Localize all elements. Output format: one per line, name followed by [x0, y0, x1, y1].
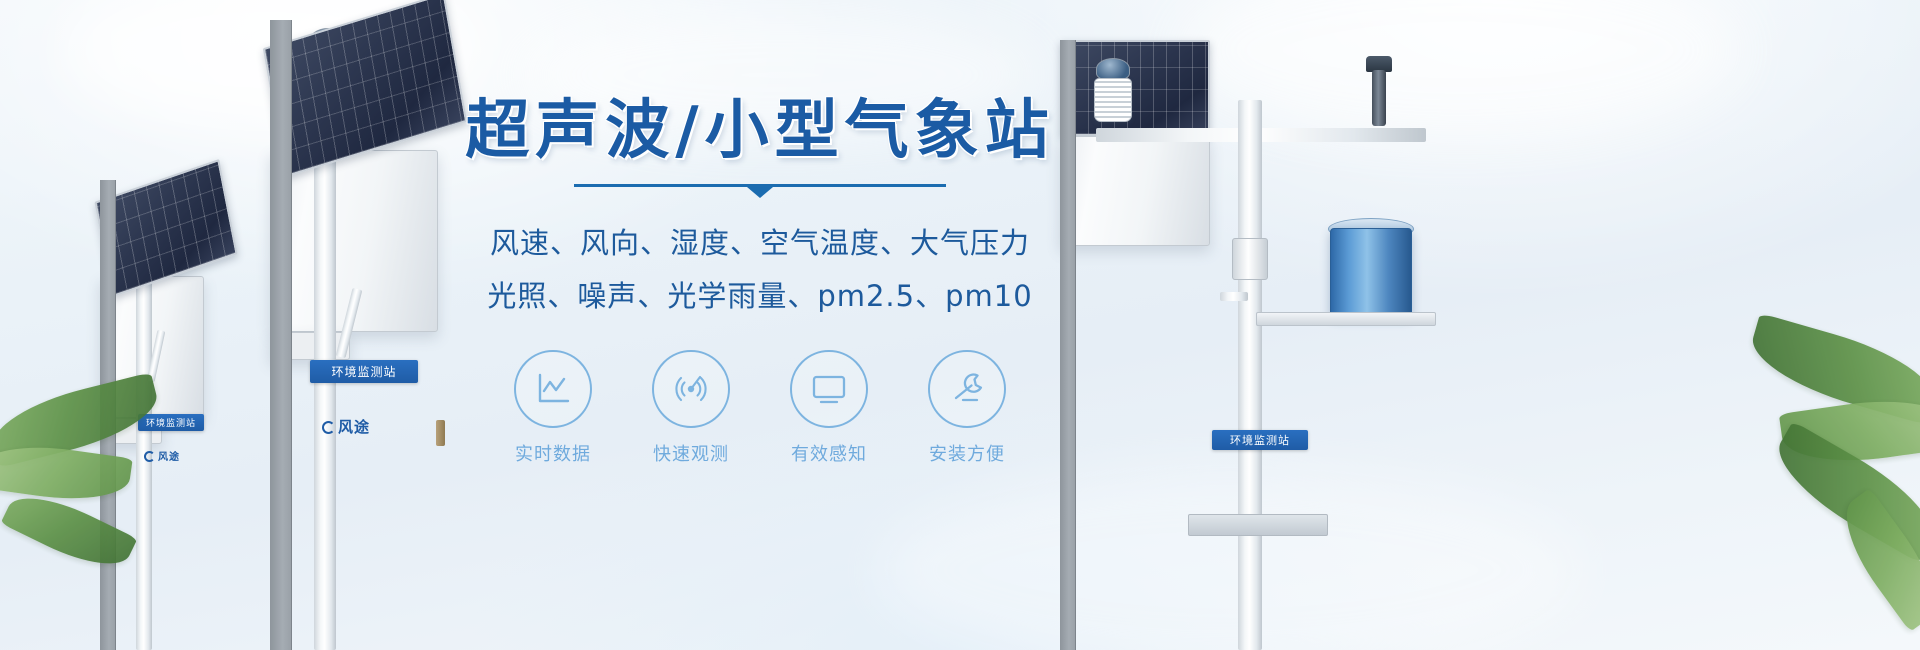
compact-weather-sensor — [1096, 58, 1130, 80]
cabinet-side-panel — [270, 20, 292, 650]
brand-glyph-icon — [144, 451, 155, 462]
feature-fast-observation[interactable]: 快速观测 — [641, 350, 741, 466]
product-banner: 环境监测站 风途 环境监测站 风途 — [0, 0, 1920, 650]
feature-icon-circle — [652, 350, 730, 428]
title-divider — [574, 184, 946, 187]
optical-sensor-body — [1372, 70, 1386, 126]
radar-signal-icon — [671, 369, 711, 409]
feature-icon-circle — [514, 350, 592, 428]
cabinet-name-plate: 环境监测站 — [1212, 430, 1308, 450]
feature-icon-circle — [790, 350, 868, 428]
line-chart-icon — [533, 369, 573, 409]
subtitle-line-2: 光照、噪声、光学雨量、pm2.5、pm10 — [440, 270, 1080, 324]
equipment-cabinet — [1060, 136, 1210, 246]
feature-label: 安装方便 — [917, 440, 1017, 466]
brand-glyph-icon — [322, 421, 335, 434]
feature-realtime-data[interactable]: 实时数据 — [503, 350, 603, 466]
feature-list: 实时数据 快速观测 — [440, 350, 1080, 466]
optical-rain-gauge — [1330, 228, 1412, 316]
pole-collar — [1232, 238, 1268, 280]
page-title: 超声波/小型气象站 — [440, 96, 1080, 168]
feature-easy-installation[interactable]: 安装方便 — [917, 350, 1017, 466]
cabinet-base — [1188, 514, 1328, 536]
radiation-shield — [1094, 78, 1132, 122]
mounting-pole — [1238, 100, 1262, 650]
feature-label: 实时数据 — [503, 440, 603, 466]
subtitle-line-1: 风速、风向、湿度、空气温度、大气压力 — [440, 217, 1080, 271]
mounting-pole — [314, 138, 336, 650]
feature-label: 快速观测 — [641, 440, 741, 466]
subtitle-block: 风速、风向、湿度、空气温度、大气压力 光照、噪声、光学雨量、pm2.5、pm10 — [440, 217, 1080, 324]
cabinet-name-plate: 环境监测站 — [138, 414, 204, 431]
banner-content: 超声波/小型气象站 风速、风向、湿度、空气温度、大气压力 光照、噪声、光学雨量、… — [440, 96, 1080, 466]
brand-logo-fengtu: 风途 — [144, 448, 180, 463]
wrench-icon — [946, 369, 988, 409]
feature-icon-circle — [928, 350, 1006, 428]
rain-gauge-shelf — [1256, 312, 1436, 326]
monitor-icon — [808, 369, 850, 409]
feature-label: 有效感知 — [779, 440, 879, 466]
solar-panel — [1060, 40, 1210, 136]
brand-logo-fengtu: 风途 — [322, 416, 370, 437]
panel-support-arm — [1220, 292, 1248, 301]
feature-effective-sensing[interactable]: 有效感知 — [779, 350, 879, 466]
cabinet-name-plate: 环境监测站 — [310, 360, 418, 383]
weather-station-large: 环境监测站 — [1060, 40, 1480, 650]
